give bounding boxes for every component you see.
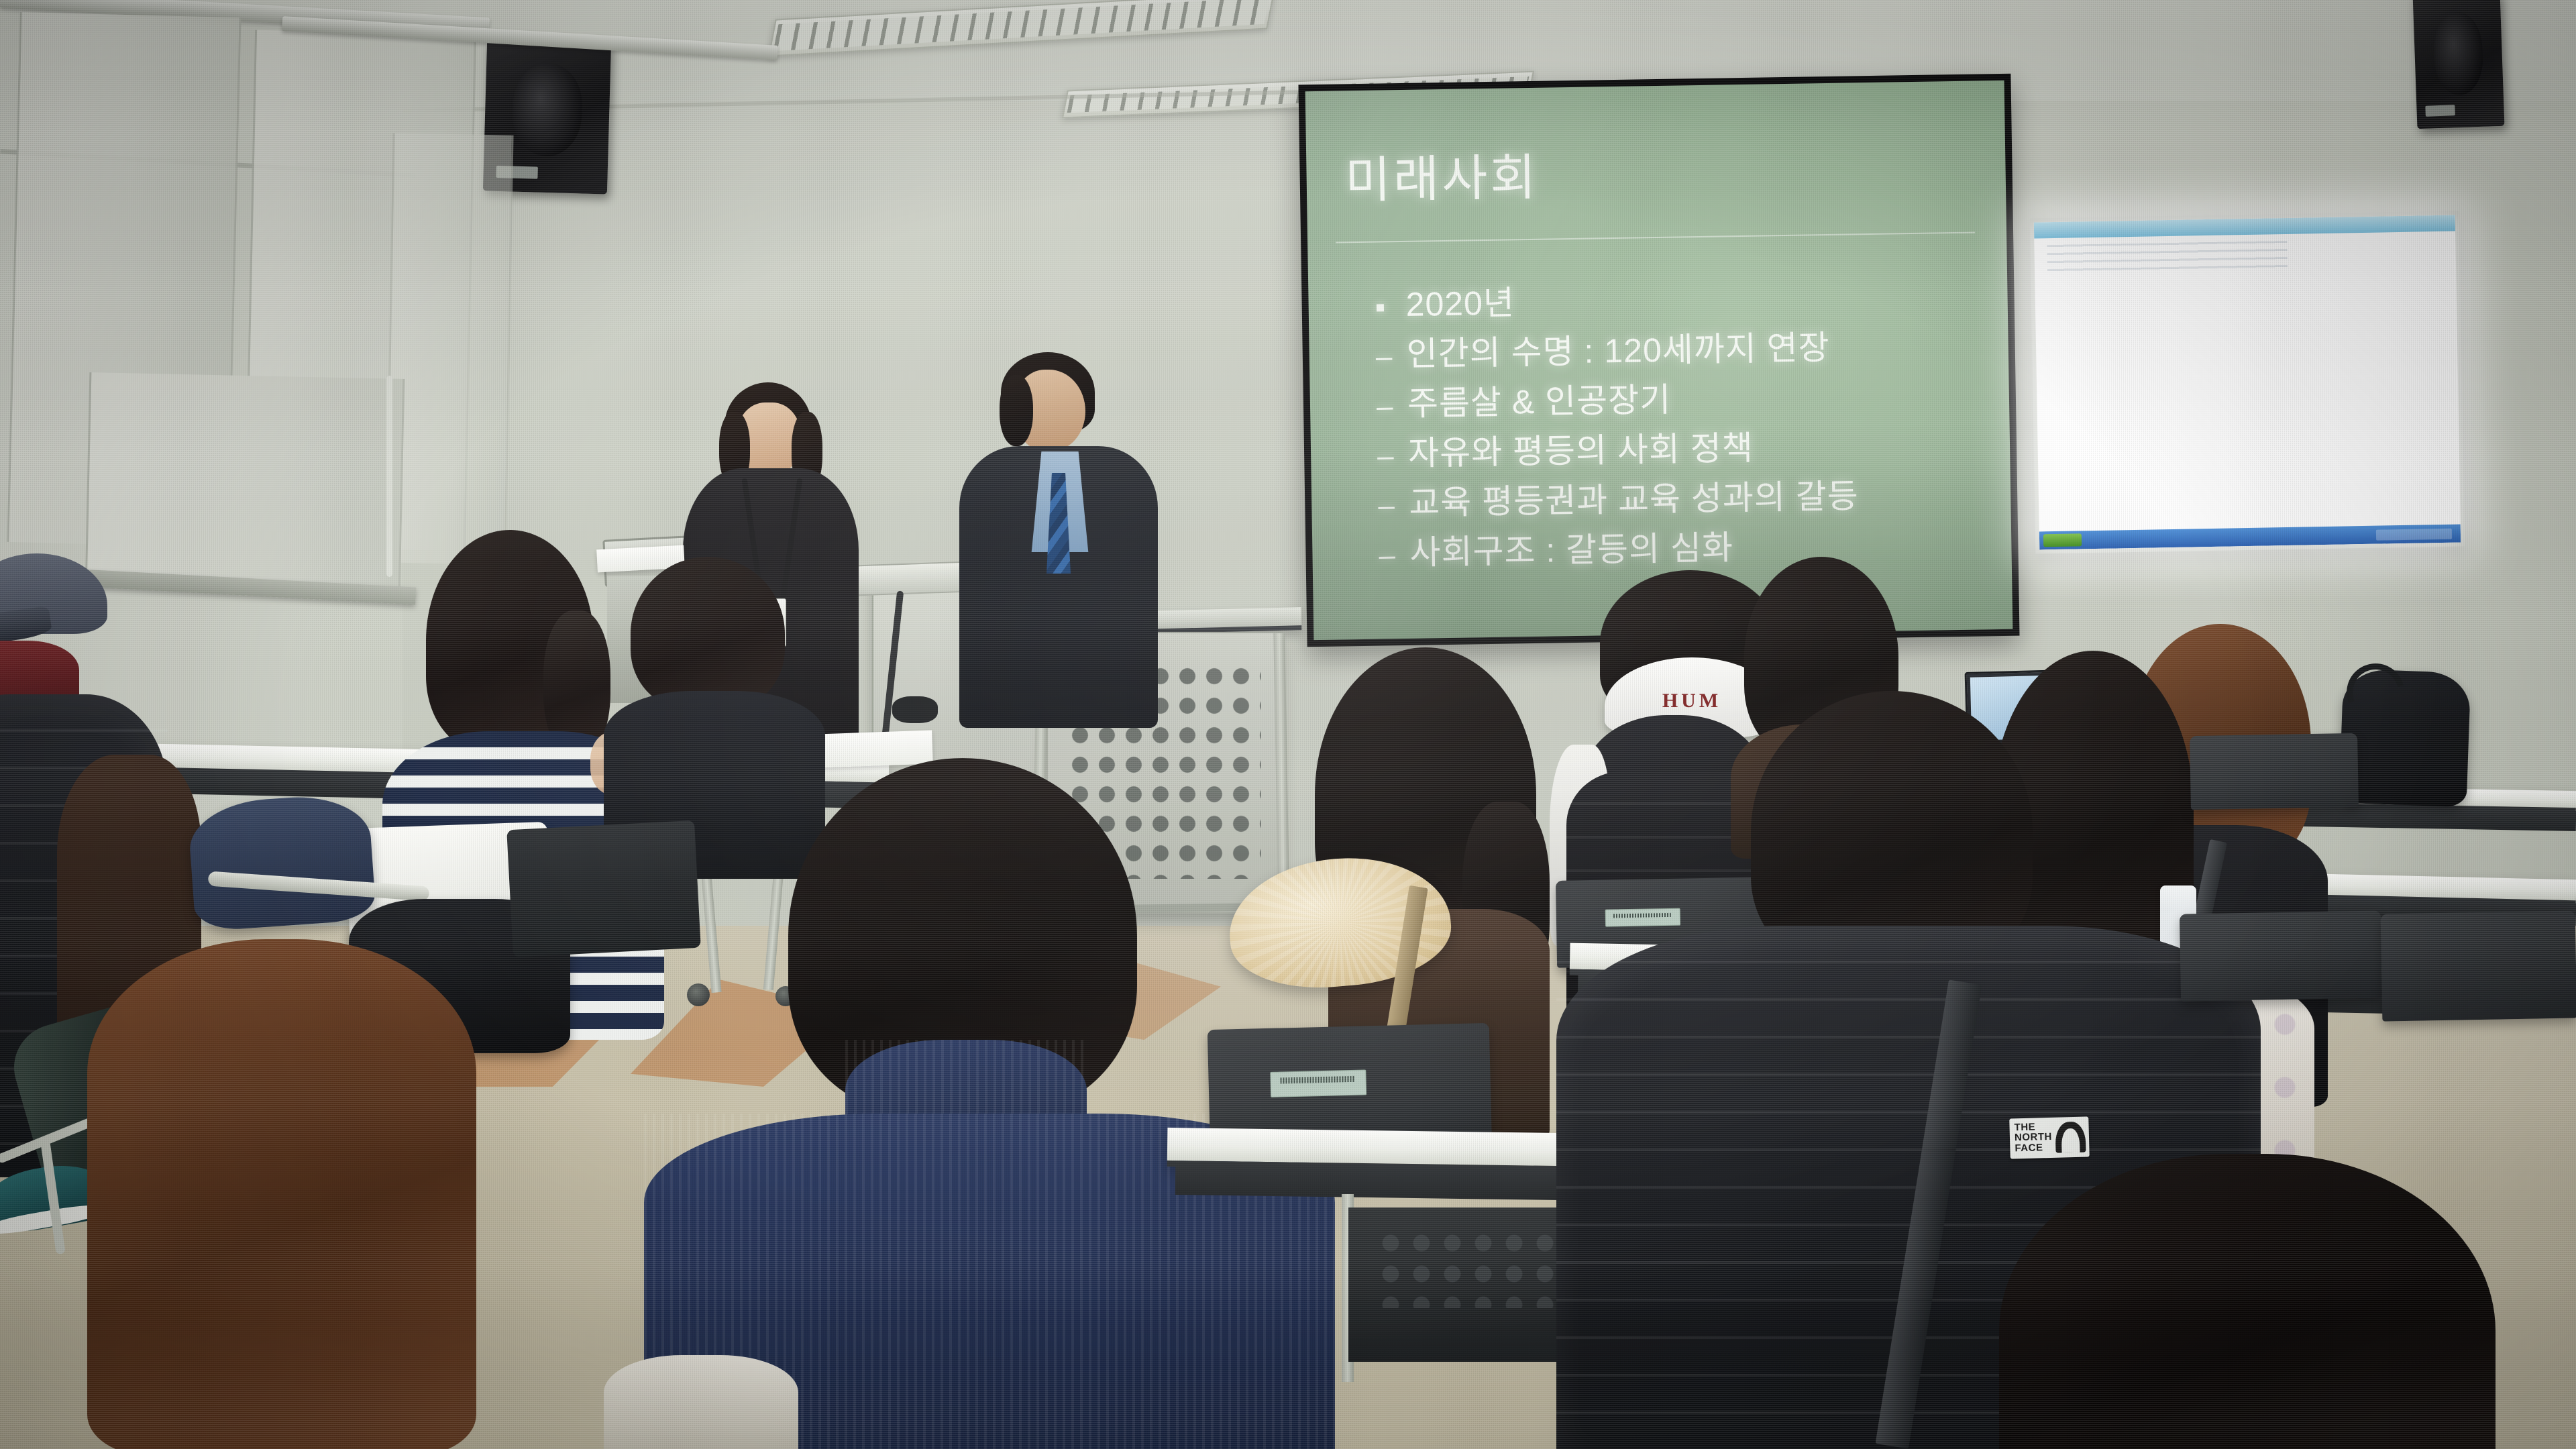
bullet-marker: – (1377, 386, 1408, 422)
projected-desktop (2034, 215, 2461, 550)
slide-bullet: ▪ 2020년 (1375, 278, 1980, 323)
slide-bullet-list: ▪ 2020년 – 인간의 수명 : 120세까지 연장 – 주름살 & 인공장… (1375, 278, 1984, 586)
brand-line-2: NORTH (2015, 1132, 2052, 1143)
brand-line-3: FACE (2015, 1142, 2052, 1153)
north-face-logo: THE NORTH FACE (2009, 1116, 2090, 1159)
north-face-wordmark: THE NORTH FACE (2014, 1122, 2052, 1153)
slide-bullet: – 교육 평등권과 교육 성과의 갈등 (1378, 477, 1983, 521)
slide-title: 미래사회 (1344, 137, 1539, 212)
window-titlebar (2034, 215, 2455, 239)
bullet-text: 교육 평등권과 교육 성과의 갈등 (1409, 479, 1859, 521)
presenter-speaker (959, 352, 1161, 728)
bullet-marker: – (1375, 337, 1407, 372)
bullet-marker: – (1377, 436, 1409, 472)
bullet-text: 2020년 (1405, 286, 1515, 323)
slide-bullet: – 인간의 수명 : 120세까지 연장 (1375, 328, 1980, 372)
chair-back[interactable] (2381, 910, 2576, 1021)
slide-surface: 미래사회 ▪ 2020년 – 인간의 수명 : 120세까지 연장 – 주름살 … (1305, 80, 2013, 640)
north-face-dome-icon (2055, 1122, 2086, 1153)
bullet-marker: – (1378, 486, 1409, 521)
bullet-marker: ▪ (1375, 287, 1406, 323)
slide-bullet: – 자유와 평등의 사회 정책 (1377, 427, 1982, 472)
hair (631, 557, 785, 711)
chair-back[interactable] (2180, 910, 2382, 1001)
bullet-text: 사회구조 : 갈등의 심화 (1409, 531, 1733, 571)
slide-bullet: – 주름살 & 인공장기 (1377, 378, 1982, 422)
pale-collar (604, 1355, 798, 1449)
chair-back[interactable] (2190, 733, 2359, 810)
bullet-text: 자유와 평등의 사회 정책 (1408, 431, 1754, 471)
student-foreground-left-hair (87, 939, 476, 1449)
bullet-text: 주름살 & 인공장기 (1407, 382, 1672, 421)
window-blind (385, 133, 513, 564)
classroom-photo: 미래사회 ▪ 2020년 – 인간의 수명 : 120세까지 연장 – 주름살 … (0, 0, 2576, 1449)
cable-port (892, 696, 938, 723)
backpack[interactable] (187, 792, 377, 932)
bullet-marker: – (1379, 535, 1410, 571)
secondary-projection-screen (2030, 211, 2465, 553)
document-text-lines (2047, 241, 2288, 274)
system-tray[interactable] (2376, 528, 2452, 540)
presenter-hair-back (1000, 375, 1033, 446)
windows-taskbar (2039, 525, 2461, 550)
projection-screen-frame: 미래사회 ▪ 2020년 – 인간의 수명 : 120세까지 연장 – 주름살 … (1298, 74, 2019, 647)
wall-speaker-right (2413, 0, 2505, 129)
slide-title-divider (1336, 232, 1975, 244)
bullet-text: 인간의 수명 : 120세까지 연장 (1406, 330, 1830, 372)
start-button[interactable] (2043, 533, 2082, 547)
asset-label (1271, 1069, 1367, 1097)
